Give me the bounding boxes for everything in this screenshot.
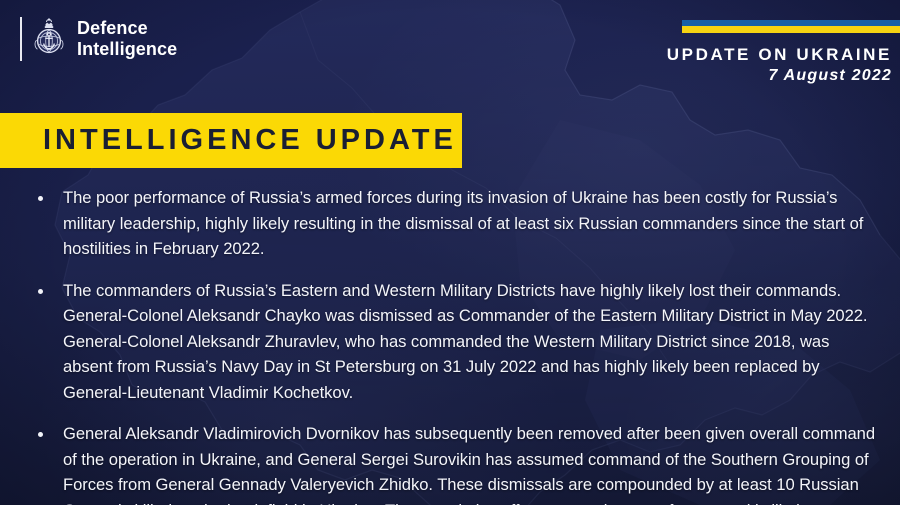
logo-divider-rule bbox=[20, 17, 22, 61]
bullet-text: The poor performance of Russia’s armed f… bbox=[63, 185, 882, 262]
bullet-dot-icon bbox=[38, 196, 43, 201]
bullet-dot-icon bbox=[38, 432, 43, 437]
banner-title-text: INTELLIGENCE UPDATE bbox=[43, 124, 457, 157]
bullet-item: The commanders of Russia’s Eastern and W… bbox=[0, 278, 900, 406]
bullet-item: The poor performance of Russia’s armed f… bbox=[0, 185, 900, 262]
royal-crest-icon bbox=[31, 17, 67, 61]
bullet-text: General Aleksandr Vladimirovich Dvorniko… bbox=[63, 421, 882, 505]
brand-wordmark: Defence Intelligence bbox=[77, 18, 177, 60]
brand-line-intelligence: Intelligence bbox=[77, 39, 177, 60]
intelligence-update-banner: INTELLIGENCE UPDATE bbox=[0, 113, 462, 168]
bullet-text: The commanders of Russia’s Eastern and W… bbox=[63, 278, 882, 406]
poster-header: Defence Intelligence UPDATE ON UKRAINE 7… bbox=[0, 0, 900, 110]
update-heading-block: UPDATE ON UKRAINE 7 August 2022 bbox=[667, 45, 892, 85]
flag-stripe-yellow bbox=[682, 26, 900, 33]
update-date: 7 August 2022 bbox=[667, 66, 892, 85]
ukraine-flag-bar bbox=[682, 20, 900, 33]
intelligence-update-poster: Defence Intelligence UPDATE ON UKRAINE 7… bbox=[0, 0, 900, 505]
brand-line-defence: Defence bbox=[77, 18, 177, 39]
bullet-list: The poor performance of Russia’s armed f… bbox=[0, 185, 900, 505]
update-on-ukraine-title: UPDATE ON UKRAINE bbox=[667, 45, 892, 65]
bullet-item: General Aleksandr Vladimirovich Dvorniko… bbox=[0, 421, 900, 505]
defence-intelligence-logo: Defence Intelligence bbox=[20, 17, 177, 61]
bullet-dot-icon bbox=[38, 289, 43, 294]
